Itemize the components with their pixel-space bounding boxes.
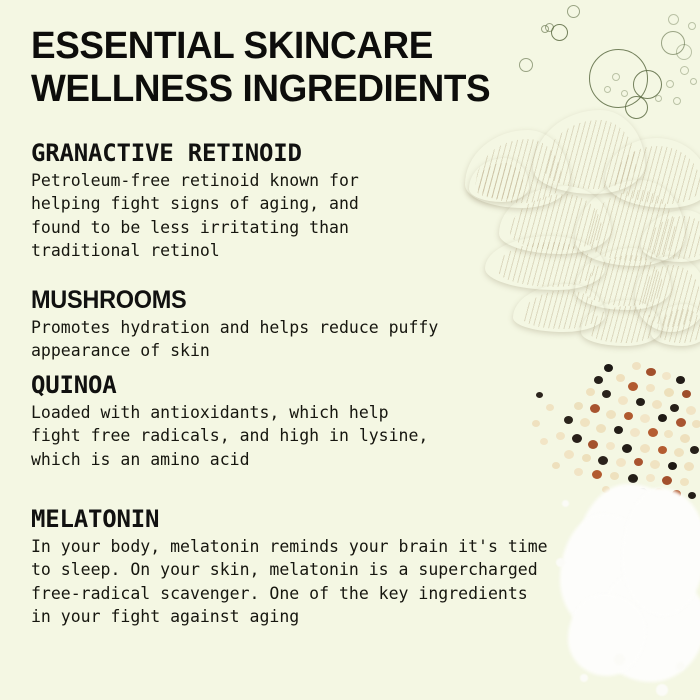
- ingredient-description-melatonin: In your body, melatonin reminds your bra…: [31, 535, 676, 629]
- ingredient-description-mushrooms: Promotes hydration and helps reduce puff…: [31, 316, 551, 363]
- poster-text: ESSENTIAL SKINCARE WELLNESS INGREDIENTS …: [0, 0, 700, 700]
- ingredient-heading-granactive-retinoid: GRANACTIVE RETINOID: [31, 140, 461, 167]
- ingredient-description-quinoa: Loaded with antioxidants, which help fig…: [31, 401, 531, 471]
- ingredient-description-granactive-retinoid: Petroleum-free retinoid known for helpin…: [31, 169, 461, 263]
- ingredient-section-mushrooms: MUSHROOMS Promotes hydration and helps r…: [31, 286, 551, 363]
- ingredient-section-melatonin: MELATONIN In your body, melatonin remind…: [31, 506, 676, 629]
- ingredient-section-quinoa: QUINOA Loaded with antioxidants, which h…: [31, 372, 531, 471]
- ingredient-heading-quinoa: QUINOA: [31, 372, 531, 399]
- ingredient-section-granactive-retinoid: GRANACTIVE RETINOID Petroleum-free retin…: [31, 140, 461, 263]
- ingredients-poster: ESSENTIAL SKINCARE WELLNESS INGREDIENTS …: [0, 0, 700, 700]
- ingredient-heading-melatonin: MELATONIN: [31, 506, 676, 533]
- ingredient-heading-mushrooms: MUSHROOMS: [31, 286, 520, 314]
- page-title: ESSENTIAL SKINCARE WELLNESS INGREDIENTS: [31, 25, 535, 110]
